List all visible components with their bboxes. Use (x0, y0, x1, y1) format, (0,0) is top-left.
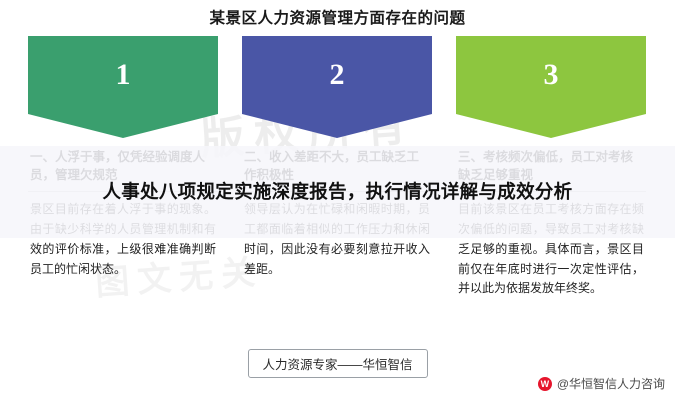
page-title: 某景区人力资源管理方面存在的问题 (0, 6, 675, 28)
step-number-2: 2 (242, 36, 432, 114)
arrow-badge-1: 1 (28, 36, 218, 138)
arrow-tip-1 (28, 114, 218, 138)
footer-label: 人力资源专家——华恒智信 (247, 349, 427, 378)
credit-block: W @华恒智信人力咨询 (538, 375, 665, 392)
arrow-tip-3 (456, 114, 646, 138)
arrow-badge-2: 2 (242, 36, 432, 138)
banner-title: 人事处八项规定实施深度报告，执行情况详解与成效分析 (38, 178, 638, 207)
credit-text: @华恒智信人力咨询 (557, 375, 665, 392)
arrow-badge-3: 3 (456, 36, 646, 138)
overlay-banner: 人事处八项规定实施深度报告，执行情况详解与成效分析 (0, 146, 675, 238)
step-number-3: 3 (456, 36, 646, 114)
slide-canvas: 某景区人力资源管理方面存在的问题 版权所有 图文无关 1 一、人浮于事，仅凭经验… (0, 0, 675, 400)
arrow-tip-2 (242, 114, 432, 138)
step-number-1: 1 (28, 36, 218, 114)
weibo-icon: W (538, 377, 552, 391)
